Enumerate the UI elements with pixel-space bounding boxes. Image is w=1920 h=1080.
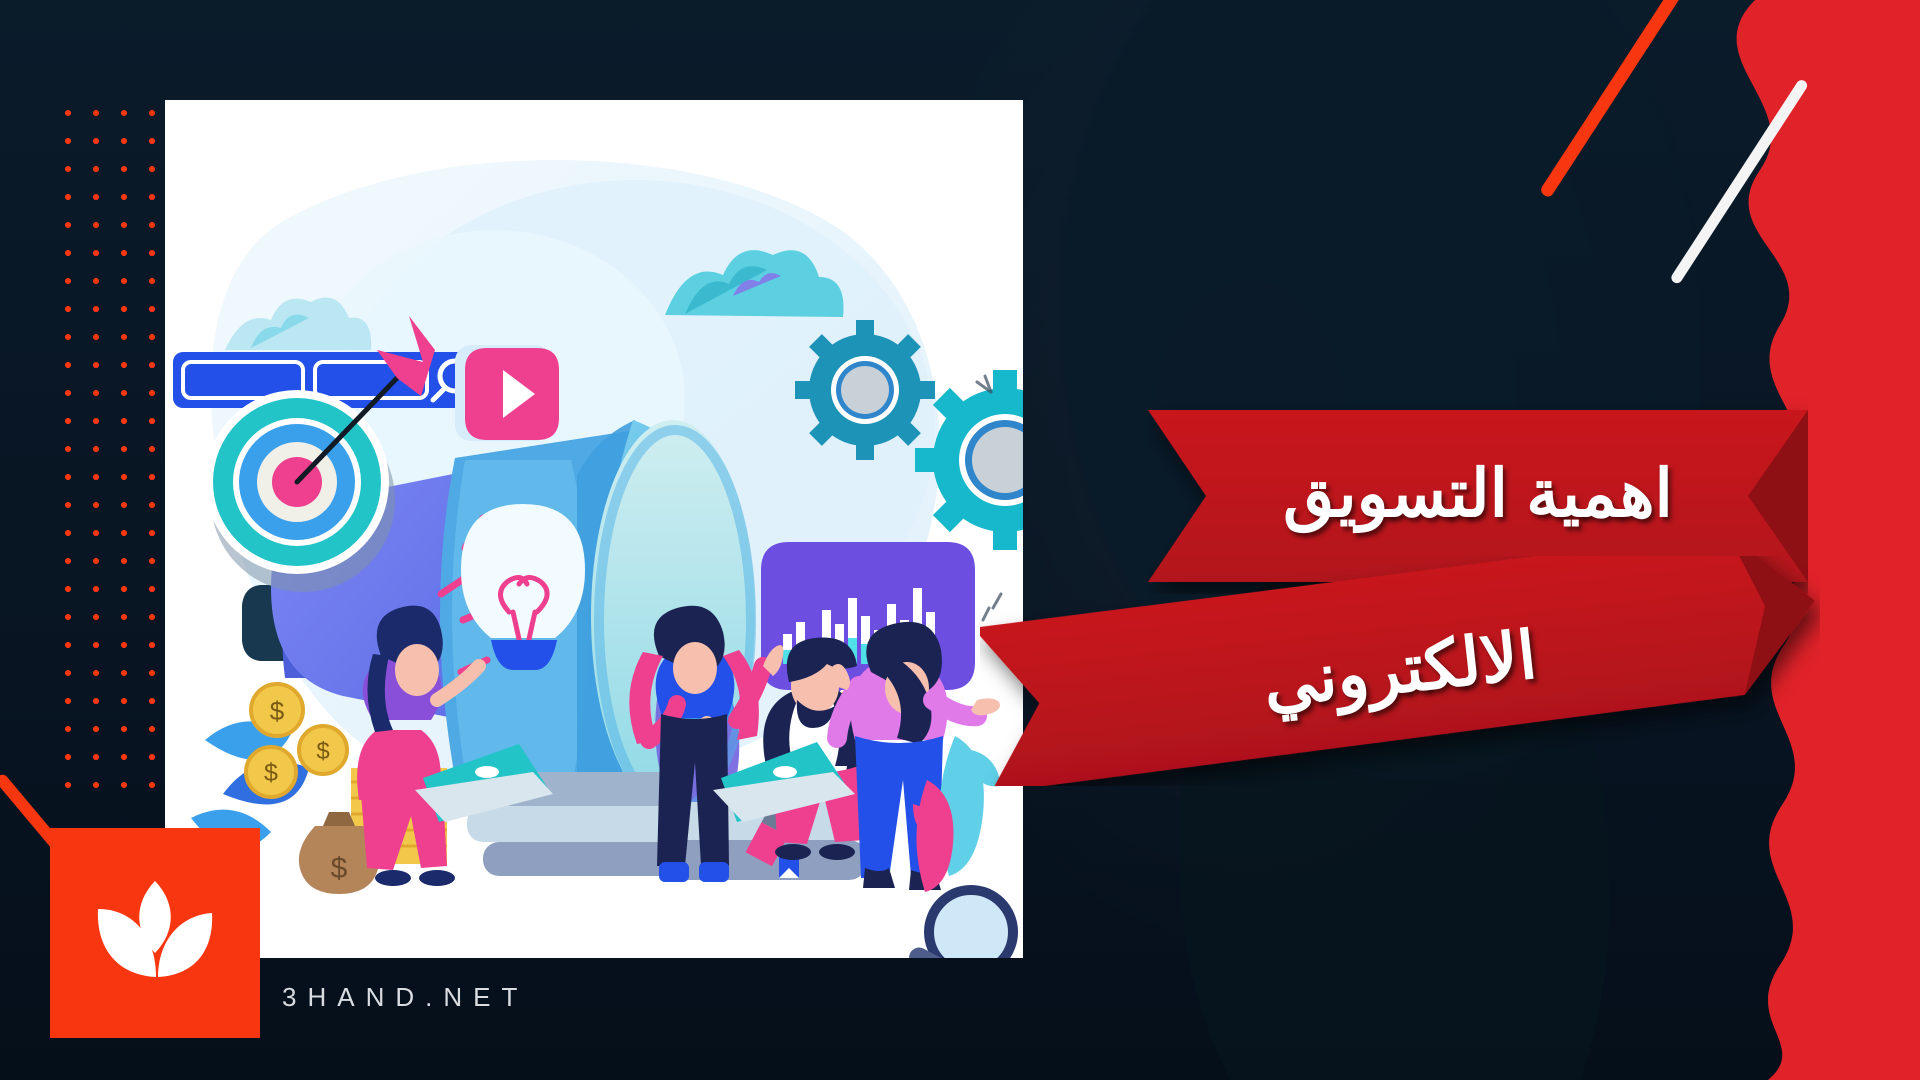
gear-small-icon <box>795 320 935 460</box>
digital-marketing-illustration: $ $ $ $ <box>165 100 1023 958</box>
svg-text:$: $ <box>270 696 285 726</box>
title-banner-line-2: الالكتروني <box>980 556 1820 786</box>
three-leaf-logo-icon <box>90 873 220 993</box>
svg-text:$: $ <box>264 759 278 787</box>
svg-text:$: $ <box>331 852 348 885</box>
dot-grid <box>50 95 155 795</box>
play-button-icon <box>455 345 559 441</box>
illustration-card: $ $ $ $ <box>165 100 1023 958</box>
poster-canvas: $ $ $ $ <box>0 0 1920 1080</box>
watermark-text: 3HAND.NET <box>282 982 528 1013</box>
svg-text:$: $ <box>316 738 329 765</box>
brand-logo[interactable] <box>50 828 260 1038</box>
